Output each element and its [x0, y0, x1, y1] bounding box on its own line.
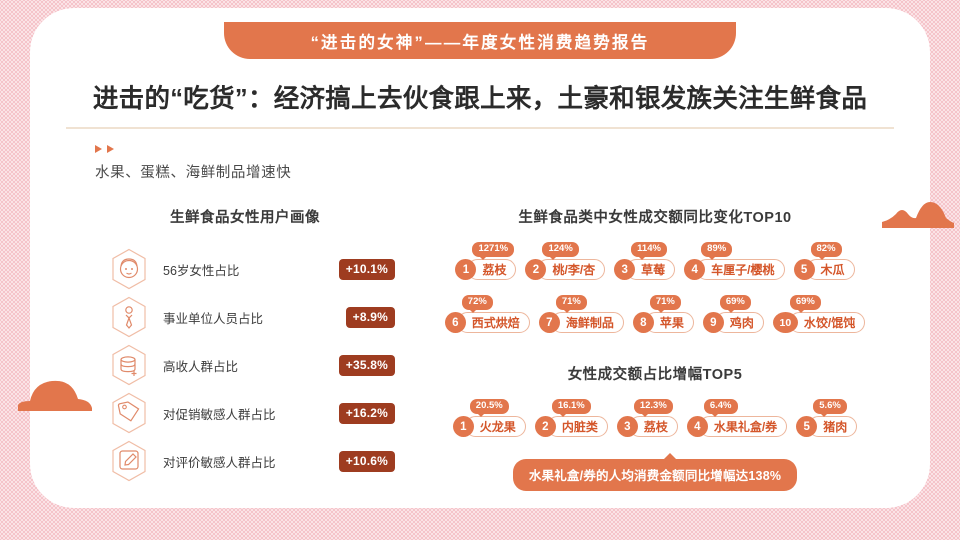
rank-item[interactable]: 6.4%4水果礼盒/券 — [687, 399, 787, 437]
rank-item[interactable]: 20.5%1火龙果 — [453, 399, 526, 437]
portrait-label: 对促销敏感人群占比 — [163, 404, 339, 423]
percent-bubble: 72% — [462, 295, 493, 310]
percent-bubble: 12.3% — [634, 399, 673, 414]
portrait-row: 对促销敏感人群占比+16.2% — [95, 389, 395, 437]
rank-number: 7 — [539, 312, 560, 333]
percent-bubble: 16.1% — [552, 399, 591, 414]
top10-row-first: 1271%1荔枝124%2桃/李/杏114%3草莓89%4车厘子/樱桃82%5木… — [420, 242, 890, 280]
rank-label: 西式烘焙 — [457, 312, 530, 333]
rank-label: 车厘子/樱桃 — [696, 259, 784, 280]
rank-number: 10 — [773, 312, 798, 333]
rank-item[interactable]: 89%4车厘子/樱桃 — [684, 242, 784, 280]
percent-bubble: 20.5% — [470, 399, 509, 414]
portrait-label: 事业单位人员占比 — [163, 308, 346, 327]
percent-bubble: 69% — [720, 295, 751, 310]
rank-number: 1 — [453, 416, 474, 437]
callout-wrapper: 水果礼盒/券的人均消费金额同比增幅达138% — [420, 459, 890, 491]
percent-bubble: 124% — [542, 242, 578, 257]
necktie-person-icon — [109, 296, 149, 338]
rank-item[interactable]: 5.6%5猪肉 — [796, 399, 857, 437]
percent-bubble: 114% — [631, 242, 667, 257]
portrait-row: 事业单位人员占比+8.9% — [95, 293, 395, 341]
rank-label: 水饺/馄饨 — [789, 312, 865, 333]
top10-row-second: 72%6西式烘焙71%7海鲜制品71%8苹果69%9鸡肉69%10水饺/馄饨 — [420, 295, 890, 333]
rank-item[interactable]: 1271%1荔枝 — [455, 242, 516, 280]
rank-item[interactable]: 16.1%2内脏类 — [535, 399, 608, 437]
portrait-value-badge: +16.2% — [339, 403, 395, 424]
woman-face-icon — [109, 248, 149, 290]
ranking-panel: 生鲜食品类中女性成交额同比变化TOP10 1271%1荔枝124%2桃/李/杏1… — [420, 206, 890, 491]
rank-number: 3 — [617, 416, 638, 437]
percent-bubble: 89% — [701, 242, 732, 257]
percent-bubble: 71% — [556, 295, 587, 310]
percent-bubble: 1271% — [472, 242, 514, 257]
top5-row: 20.5%1火龙果16.1%2内脏类12.3%3荔枝6.4%4水果礼盒/券5.6… — [420, 399, 890, 437]
portrait-row-list: 56岁女性占比+10.1%事业单位人员占比+8.9%高收人群占比+35.8%对促… — [95, 245, 395, 485]
price-tag-icon — [109, 392, 149, 434]
portrait-value-badge: +10.1% — [339, 259, 395, 280]
portrait-value-badge: +8.9% — [346, 307, 395, 328]
rank-item[interactable]: 72%6西式烘焙 — [445, 295, 530, 333]
rank-label: 内脏类 — [547, 416, 608, 437]
rank-number: 6 — [445, 312, 466, 333]
portrait-row: 高收人群占比+35.8% — [95, 341, 395, 389]
callout-badge: 水果礼盒/券的人均消费金额同比增幅达138% — [513, 459, 797, 491]
top10-title: 生鲜食品类中女性成交额同比变化TOP10 — [420, 206, 890, 227]
rank-label: 海鲜制品 — [551, 312, 624, 333]
portrait-value-badge: +35.8% — [339, 355, 395, 376]
pencil-edit-icon — [109, 440, 149, 482]
rank-number: 3 — [614, 259, 635, 280]
page-title: 进击的“吃货”：经济搞上去伙食跟上来，土豪和银发族关注生鲜食品 — [0, 78, 960, 115]
mountain-decoration-right — [882, 196, 954, 228]
percent-bubble: 82% — [811, 242, 842, 257]
rank-number: 8 — [633, 312, 654, 333]
rank-label: 火龙果 — [465, 416, 526, 437]
portrait-row: 对评价敏感人群占比+10.6% — [95, 437, 395, 485]
coin-stack-plus-icon — [109, 344, 149, 386]
rank-item[interactable]: 69%10水饺/馄饨 — [773, 295, 865, 333]
rank-item[interactable]: 71%8苹果 — [633, 295, 694, 333]
report-banner: “进击的女神”——年度女性消费趋势报告 — [224, 22, 736, 59]
rank-number: 9 — [703, 312, 724, 333]
rank-label: 桃/李/杏 — [537, 259, 605, 280]
portrait-label: 56岁女性占比 — [163, 260, 339, 279]
percent-bubble: 5.6% — [813, 399, 847, 414]
rank-number: 2 — [535, 416, 556, 437]
portrait-row: 56岁女性占比+10.1% — [95, 245, 395, 293]
rank-item[interactable]: 114%3草莓 — [614, 242, 675, 280]
portrait-value-badge: +10.6% — [339, 451, 395, 472]
rank-item[interactable]: 69%9鸡肉 — [703, 295, 764, 333]
triangle-arrow-icon — [95, 145, 102, 153]
rank-number: 5 — [794, 259, 815, 280]
percent-bubble: 6.4% — [704, 399, 738, 414]
rank-label: 水果礼盒/券 — [699, 416, 787, 437]
portrait-label: 高收人群占比 — [163, 356, 339, 375]
user-portrait-panel: 生鲜食品女性用户画像 56岁女性占比+10.1%事业单位人员占比+8.9%高收人… — [95, 206, 395, 485]
cloud-decoration-left — [18, 375, 96, 411]
section-subtitle: 水果、蛋糕、海鲜制品增速快 — [95, 161, 291, 182]
triangle-arrow-icon — [107, 145, 114, 153]
percent-bubble: 71% — [650, 295, 681, 310]
title-divider — [66, 127, 894, 129]
percent-bubble: 69% — [790, 295, 821, 310]
rank-item[interactable]: 71%7海鲜制品 — [539, 295, 624, 333]
arrow-markers — [95, 145, 114, 153]
portrait-label: 对评价敏感人群占比 — [163, 452, 339, 471]
rank-number: 4 — [687, 416, 708, 437]
left-panel-title: 生鲜食品女性用户画像 — [95, 206, 395, 227]
rank-item[interactable]: 82%5木瓜 — [794, 242, 855, 280]
rank-item[interactable]: 12.3%3荔枝 — [617, 399, 678, 437]
rank-item[interactable]: 124%2桃/李/杏 — [525, 242, 605, 280]
top5-title: 女性成交额占比增幅TOP5 — [420, 363, 890, 384]
